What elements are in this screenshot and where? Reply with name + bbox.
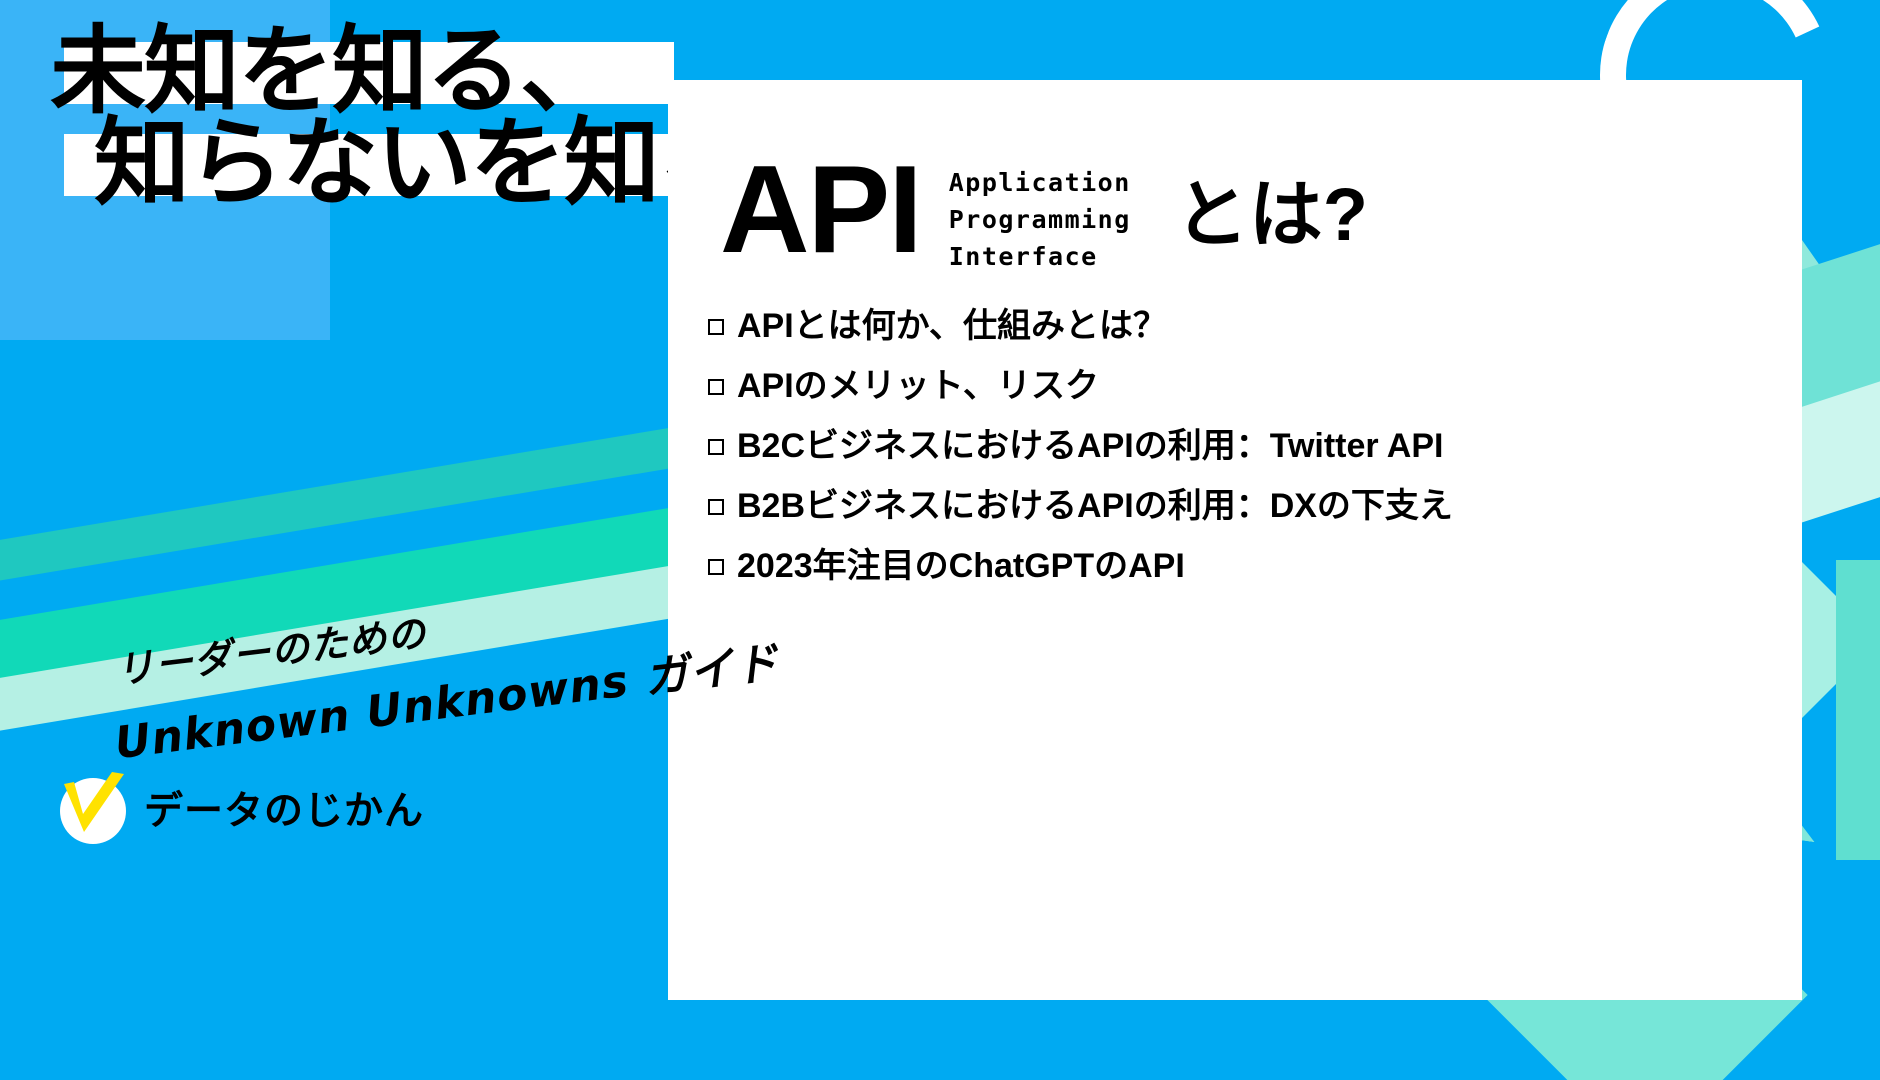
card-title-row: API ApplicationProgrammingInterface とは? bbox=[668, 80, 1802, 275]
list-item: APIとは何か、仕組みとは？ bbox=[708, 309, 1802, 343]
bg-shape-vertical-bar bbox=[1836, 560, 1880, 860]
headline-line-2: 知らないを知る bbox=[50, 116, 670, 212]
content-card: API ApplicationProgrammingInterface とは? … bbox=[668, 80, 1802, 1000]
check-mark-icon bbox=[54, 770, 130, 846]
headline: 未知を知る、 知らないを知る bbox=[50, 24, 670, 212]
headline-line-1: 未知を知る、 bbox=[50, 24, 670, 120]
square-bullet-icon bbox=[708, 319, 724, 335]
list-item-label: APIのメリット、リスク bbox=[737, 369, 1099, 403]
title-acronym: API bbox=[720, 156, 921, 265]
square-bullet-icon bbox=[708, 439, 724, 455]
list-item: B2CビジネスにおけるAPIの利用：Twitter API bbox=[708, 429, 1802, 463]
agenda-list: APIとは何か、仕組みとは？ APIのメリット、リスク B2CビジネスにおけるA… bbox=[668, 309, 1802, 583]
list-item: 2023年注目のChatGPTのAPI bbox=[708, 549, 1802, 583]
brand-logo: データのじかん bbox=[54, 770, 424, 846]
list-item-label: B2CビジネスにおけるAPIの利用：Twitter API bbox=[737, 429, 1443, 463]
title-expansion-line-1: Application bbox=[949, 168, 1131, 197]
list-item-label: 2023年注目のChatGPTのAPI bbox=[737, 549, 1185, 583]
list-item: APIのメリット、リスク bbox=[708, 369, 1802, 403]
title-expansion: ApplicationProgrammingInterface bbox=[949, 164, 1131, 275]
title-suffix: とは? bbox=[1175, 178, 1368, 252]
headline-line-1-text: 未知を知る、 bbox=[50, 18, 614, 125]
square-bullet-icon bbox=[708, 499, 724, 515]
logo-text: データのじかん bbox=[144, 780, 424, 836]
title-expansion-line-2: Programming bbox=[949, 205, 1131, 234]
list-item: B2BビジネスにおけるAPIの利用：DXの下支え bbox=[708, 489, 1802, 523]
square-bullet-icon bbox=[708, 379, 724, 395]
list-item-label: APIとは何か、仕組みとは？ bbox=[737, 309, 1167, 343]
logo-mark bbox=[54, 770, 130, 846]
list-item-label: B2BビジネスにおけるAPIの利用：DXの下支え bbox=[737, 489, 1453, 523]
title-expansion-line-3: Interface bbox=[949, 242, 1098, 271]
headline-line-2-text: 知らないを知る bbox=[94, 110, 752, 217]
slide-root: 未知を知る、 知らないを知る API ApplicationProgrammin… bbox=[0, 0, 1880, 1080]
